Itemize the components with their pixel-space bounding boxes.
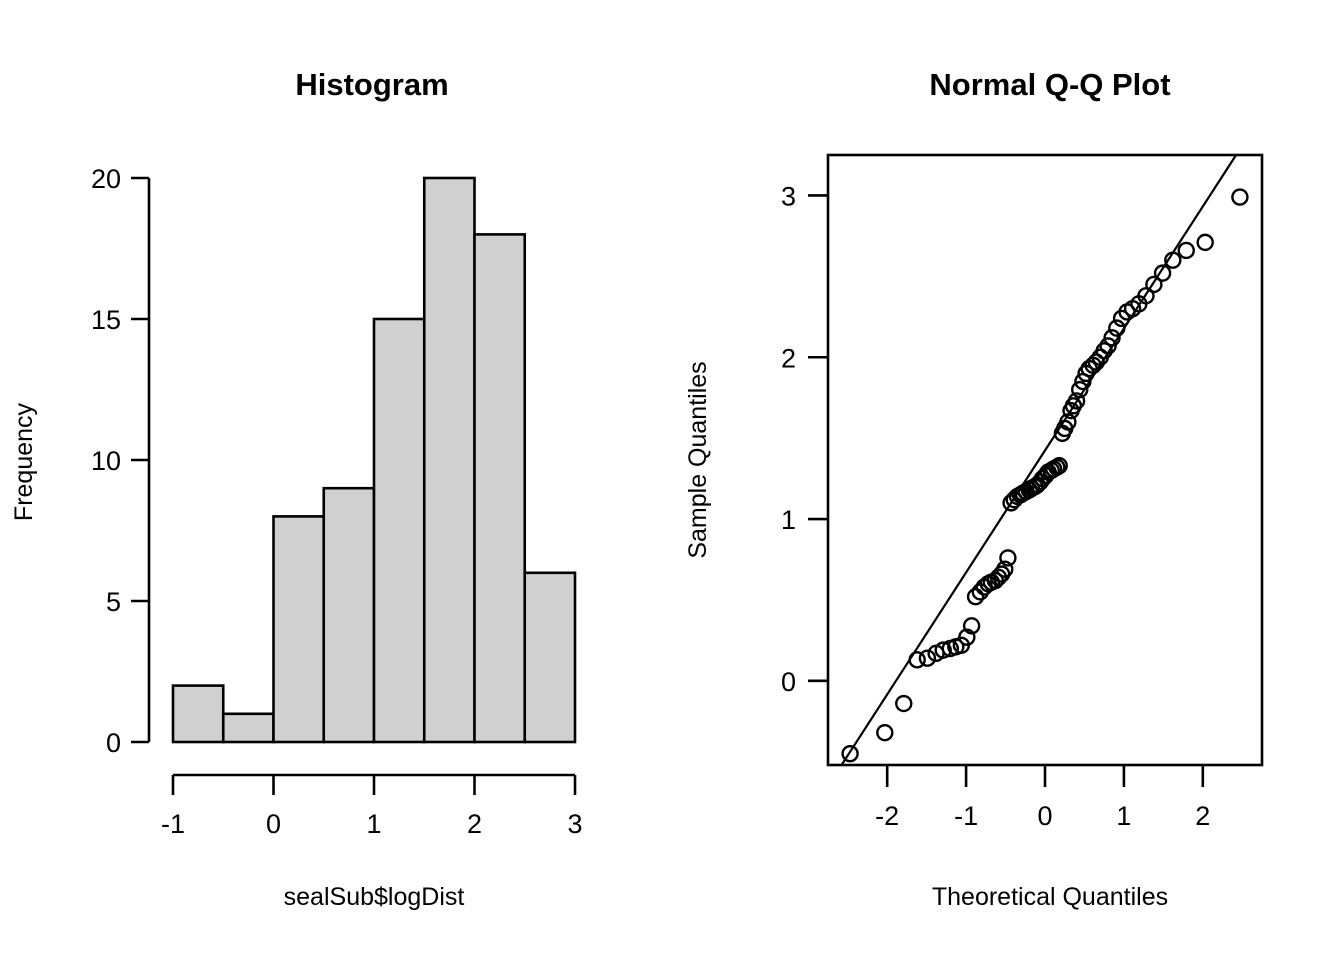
qqplot-point	[877, 725, 892, 740]
qqplot-point	[1198, 235, 1213, 250]
histogram-x-tick-label: 2	[467, 809, 482, 839]
histogram-bar	[274, 516, 324, 742]
histogram-x-tick-label: -1	[161, 809, 185, 839]
histogram-bar	[475, 234, 525, 742]
qqplot-y-axis: 0123	[781, 181, 828, 696]
histogram-bar	[324, 488, 374, 742]
histogram-x-tick-label: 0	[266, 809, 281, 839]
histogram-svg: Histogram Frequency sealSub$logDist 0510…	[0, 0, 672, 960]
histogram-bar	[374, 319, 424, 742]
histogram-y-tick-label: 10	[91, 446, 121, 476]
histogram-bar	[525, 573, 575, 742]
histogram-x-tick-label: 3	[567, 809, 582, 839]
qqplot-point	[896, 696, 911, 711]
qqplot-box-frame	[828, 155, 1262, 765]
histogram-x-axis-label: sealSub$logDist	[284, 883, 465, 911]
qqplot-x-tick-label: 1	[1116, 801, 1131, 831]
qqplot-x-tick-label: -1	[954, 801, 978, 831]
histogram-bar	[424, 178, 474, 742]
histogram-x-axis: -10123	[161, 775, 583, 839]
histogram-y-axis-label: Frequency	[10, 402, 38, 521]
qqplot-data-points	[843, 190, 1248, 762]
histogram-panel: Histogram Frequency sealSub$logDist 0510…	[0, 0, 672, 960]
histogram-y-tick-label: 15	[91, 305, 121, 335]
qqplot-title: Normal Q-Q Plot	[929, 67, 1170, 102]
qqplot-reference-line	[842, 155, 1237, 765]
histogram-y-tick-label: 0	[106, 728, 121, 758]
qqplot-panel: Normal Q-Q Plot Sample Quantiles Theoret…	[672, 0, 1344, 960]
histogram-y-axis: 05101520	[91, 164, 149, 758]
qqplot-x-tick-label: -2	[875, 801, 899, 831]
histogram-bars	[173, 178, 575, 742]
qqplot-svg: Normal Q-Q Plot Sample Quantiles Theoret…	[672, 0, 1344, 960]
qqplot-x-tick-label: 0	[1037, 801, 1052, 831]
figure-root: Histogram Frequency sealSub$logDist 0510…	[0, 0, 1344, 960]
qqplot-reference-line-path	[842, 155, 1237, 765]
qqplot-x-tick-label: 2	[1195, 801, 1210, 831]
qqplot-y-tick-label: 3	[781, 181, 796, 211]
qqplot-point	[1232, 190, 1247, 205]
qqplot-point	[1179, 243, 1194, 258]
qqplot-y-tick-label: 2	[781, 343, 796, 373]
histogram-title: Histogram	[295, 67, 448, 102]
qqplot-y-tick-label: 1	[781, 505, 796, 535]
qqplot-y-axis-label: Sample Quantiles	[684, 361, 712, 558]
qqplot-y-tick-label: 0	[781, 667, 796, 697]
qqplot-x-axis-label: Theoretical Quantiles	[932, 883, 1168, 911]
qqplot-x-axis: -2-1012	[875, 765, 1210, 831]
histogram-bar	[223, 714, 273, 742]
histogram-x-tick-label: 1	[366, 809, 381, 839]
histogram-y-tick-label: 20	[91, 164, 121, 194]
histogram-bar	[173, 686, 223, 742]
histogram-y-tick-label: 5	[106, 587, 121, 617]
